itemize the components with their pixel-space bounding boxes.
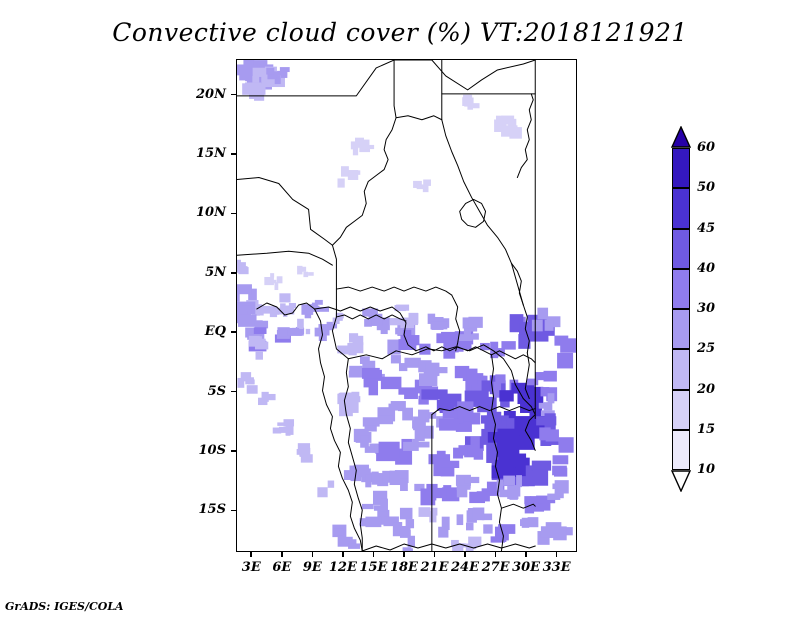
page-title: Convective cloud cover (%) VT:2018121921 [0, 18, 800, 47]
y-tick [231, 153, 236, 155]
colorbar-tick-label: 40 [697, 261, 715, 276]
colorbar-tick-label: 60 [697, 140, 715, 155]
x-tick [556, 552, 558, 557]
y-axis-label: 10N [164, 205, 226, 220]
y-axis-label: 10S [164, 443, 226, 458]
colorbar-band [672, 148, 690, 188]
y-tick [231, 213, 236, 215]
y-axis-label: 15N [164, 146, 226, 161]
colorbar-band [672, 349, 690, 389]
y-tick [231, 510, 236, 512]
colorbar-band [672, 390, 690, 430]
colorbar-tick-label: 10 [697, 462, 715, 477]
x-tick [434, 552, 436, 557]
colorbar-band [672, 229, 690, 269]
x-tick [250, 552, 252, 557]
colorbar-band [672, 430, 690, 470]
y-axis-label: EQ [164, 324, 226, 339]
y-tick [231, 94, 236, 96]
x-tick [464, 552, 466, 557]
colorbar-band [672, 188, 690, 228]
map-svg [237, 60, 576, 551]
colorbar-tick-label: 20 [697, 382, 715, 397]
y-axis-label: 5N [164, 265, 226, 280]
x-tick [281, 552, 283, 557]
colorbar[interactable]: 605045403025201510 [671, 126, 691, 492]
y-tick [231, 331, 236, 333]
colorbar-band [672, 269, 690, 309]
y-axis-label: 15S [164, 502, 226, 517]
colorbar-under-cap [671, 470, 691, 492]
x-tick [342, 552, 344, 557]
x-tick [525, 552, 527, 557]
x-tick [495, 552, 497, 557]
y-tick [231, 391, 236, 393]
colorbar-tick-label: 15 [697, 422, 715, 437]
colorbar-tick-label: 30 [697, 301, 715, 316]
colorbar-over-cap [671, 126, 691, 148]
colorbar-tick-label: 25 [697, 341, 715, 356]
x-axis-label: 33E [532, 560, 582, 575]
x-tick [403, 552, 405, 557]
colorbar-tick-label: 45 [697, 221, 715, 236]
grads-credit: GrADS: IGES/COLA [5, 600, 124, 613]
y-axis-label: 5S [164, 384, 226, 399]
x-tick [312, 552, 314, 557]
y-tick [231, 450, 236, 452]
colorbar-band [672, 309, 690, 349]
y-tick [231, 272, 236, 274]
map-plot-area [236, 59, 577, 552]
colorbar-tick-label: 50 [697, 180, 715, 195]
cloud-cover-layer [237, 60, 576, 551]
y-axis-label: 20N [164, 87, 226, 102]
x-tick [373, 552, 375, 557]
